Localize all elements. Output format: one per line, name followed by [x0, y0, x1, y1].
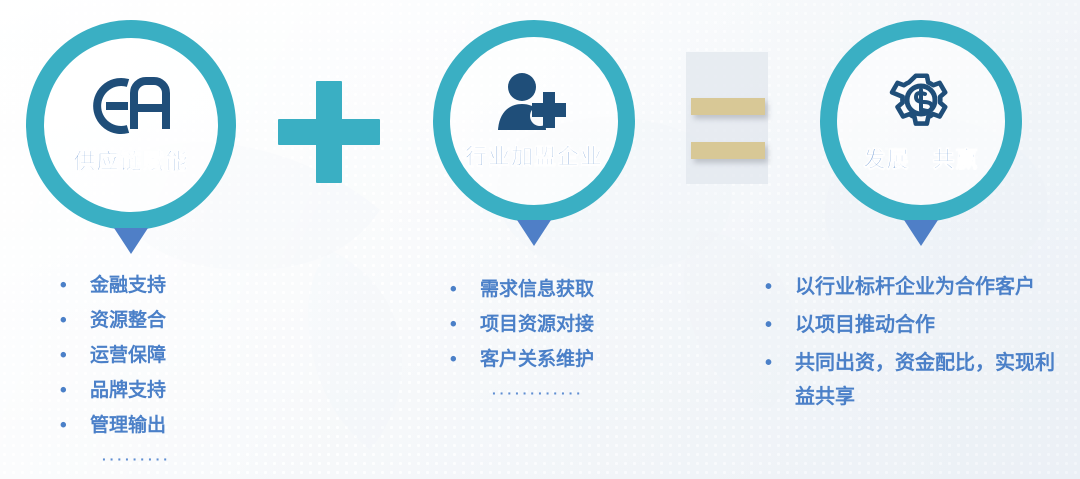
node-title: 行业加盟企业: [465, 139, 603, 171]
node-industry-franchise-enterprise[interactable]: 行业加盟企业: [433, 20, 635, 222]
node-ring: 供应链赋能: [26, 20, 236, 230]
plus-operator: [278, 81, 380, 183]
bullet-icon: •: [450, 307, 480, 342]
node-title: 供应链赋能: [73, 144, 188, 176]
equals-bottom-bar: [691, 142, 765, 159]
list-item[interactable]: • 以项目推动合作: [765, 308, 1065, 342]
list-item[interactable]: • 资源整合: [60, 303, 171, 338]
node-development-win-win[interactable]: 发展 共赢: [820, 20, 1022, 222]
equals-top-bar: [691, 98, 765, 115]
list-item-label: 以项目推动合作: [795, 308, 935, 342]
node-ring: 行业加盟企业: [433, 20, 635, 222]
list-item-label: 运营保障: [90, 338, 166, 373]
node-supply-chain-empowerment[interactable]: 供应链赋能: [26, 20, 236, 230]
list-item[interactable]: • 品牌支持: [60, 373, 171, 408]
bullet-icon: •: [60, 338, 90, 373]
list-item[interactable]: • 运营保障: [60, 338, 171, 373]
list-ellipsis: ············: [492, 385, 594, 401]
bullet-icon: •: [450, 342, 480, 377]
list-item-label: 资源整合: [90, 303, 166, 338]
node-ring: 发展 共赢: [820, 20, 1022, 222]
list-item[interactable]: • 客户关系维护: [450, 342, 594, 377]
list-supply-chain-benefits: • 金融支持 • 资源整合 • 运营保障 • 品牌支持 • 管理输出 ·····…: [60, 268, 171, 467]
bullet-icon: •: [765, 270, 795, 304]
bullet-icon: •: [60, 303, 90, 338]
node-pin-arrow: [904, 220, 938, 246]
list-item-label: 金融支持: [90, 268, 166, 303]
list-franchise-benefits: • 需求信息获取 • 项目资源对接 • 客户关系维护 ············: [450, 272, 594, 401]
gear-dollar-icon: [888, 69, 954, 140]
node-pin-arrow: [517, 220, 551, 246]
list-item-label: 客户关系维护: [480, 342, 594, 377]
plus-vertical-bar: [316, 81, 342, 183]
list-item-label: 品牌支持: [90, 373, 166, 408]
bullet-icon: •: [765, 308, 795, 342]
bullet-icon: •: [60, 373, 90, 408]
list-item[interactable]: • 项目资源对接: [450, 307, 594, 342]
bullet-icon: •: [765, 346, 795, 380]
list-item-label: 共同出资，资金配比，实现利益共享: [795, 346, 1065, 414]
bullet-icon: •: [60, 268, 90, 303]
node-pin-arrow: [114, 228, 148, 254]
diagram-canvas: 供应链赋能: [0, 0, 1080, 479]
list-item[interactable]: • 金融支持: [60, 268, 171, 303]
bullet-icon: •: [450, 272, 480, 307]
list-item[interactable]: • 管理输出: [60, 408, 171, 443]
ea-monogram-logo: [92, 75, 170, 142]
node-title: 发展 共赢: [863, 142, 978, 174]
list-cooperation-outcomes: • 以行业标杆企业为合作客户 • 以项目推动合作 • 共同出资，资金配比，实现利…: [765, 270, 1065, 418]
list-item[interactable]: • 需求信息获取: [450, 272, 594, 307]
bullet-icon: •: [60, 408, 90, 443]
list-item-label: 以行业标杆企业为合作客户: [795, 270, 1035, 304]
list-item-label: 需求信息获取: [480, 272, 594, 307]
user-plus-icon: [496, 72, 572, 137]
equals-operator: [691, 98, 765, 159]
list-item[interactable]: • 共同出资，资金配比，实现利益共享: [765, 346, 1065, 414]
list-item[interactable]: • 以行业标杆企业为合作客户: [765, 270, 1065, 304]
list-item-label: 管理输出: [90, 408, 166, 443]
list-item-label: 项目资源对接: [480, 307, 594, 342]
list-ellipsis: ·········: [102, 451, 171, 467]
